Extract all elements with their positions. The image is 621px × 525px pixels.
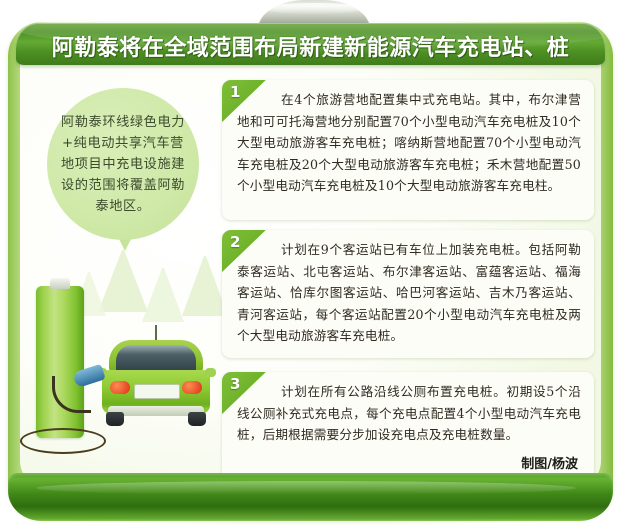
card-number: 1 — [230, 83, 240, 101]
pine-tree-icon — [142, 268, 184, 322]
car-wheel-left — [106, 412, 124, 426]
poster-base-shadow — [24, 513, 597, 525]
car-taillight-left — [110, 381, 130, 394]
circle-callout: 阿勒泰环线绿色电力+纯电动共享汽车营地项目中充电设施建设的范围将覆盖阿勒泰地区。 — [47, 88, 199, 240]
car-mirror-right — [205, 368, 216, 377]
charging-pillar-base-ring — [20, 428, 106, 454]
car-taillight-right — [182, 381, 202, 394]
page-title: 阿勒泰将在全域范围布局新建新能源汽车充电站、桩 — [16, 30, 605, 62]
car-rear-window — [116, 345, 196, 372]
car-wheel-right — [188, 412, 206, 426]
card-body-text: 在4个旅游营地配置集中式充电站。其中，布尔津营地和可可托海营地分别配置70个小型… — [237, 89, 581, 197]
car-license-plate — [134, 384, 180, 399]
card-number: 2 — [230, 233, 240, 251]
title-banner: 阿勒泰将在全域范围布局新建新能源汽车充电站、桩 — [16, 23, 605, 65]
callout-text: 阿勒泰环线绿色电力+纯电动共享汽车营地项目中充电设施建设的范围将覆盖阿勒泰地区。 — [56, 112, 190, 217]
card-body-text: 计划在所有公路沿线公厕布置充电桩。初期设5个沿线公厕补充式充电点，每个充电点配置… — [237, 381, 581, 446]
infographic-poster: 阿勒泰将在全域范围布局新建新能源汽车充电站、桩 阿勒泰环线绿色 — [0, 0, 621, 525]
charging-pillar-cap-icon — [50, 278, 70, 289]
card-number: 3 — [230, 375, 240, 393]
info-card-1: 1 在4个旅游营地配置集中式充电站。其中，布尔津营地和可可托海营地分别配置70个… — [222, 80, 594, 220]
illustration-area — [12, 250, 222, 470]
info-card-3: 3 计划在所有公路沿线公厕布置充电桩。初期设5个沿线公厕补充式充电点，每个充电点… — [222, 372, 594, 480]
card-body-text: 计划在9个客运站已有车位上加装充电桩。包括阿勒泰客运站、北屯客运站、布尔津客运站… — [237, 239, 581, 347]
info-card-2: 2 计划在9个客运站已有车位上加装充电桩。包括阿勒泰客运站、北屯客运站、布尔津客… — [222, 230, 594, 358]
charging-pillar-body — [36, 286, 84, 438]
electric-car-icon — [96, 334, 216, 434]
car-antenna — [155, 325, 157, 341]
credit-line: 制图/杨波 — [521, 453, 578, 472]
